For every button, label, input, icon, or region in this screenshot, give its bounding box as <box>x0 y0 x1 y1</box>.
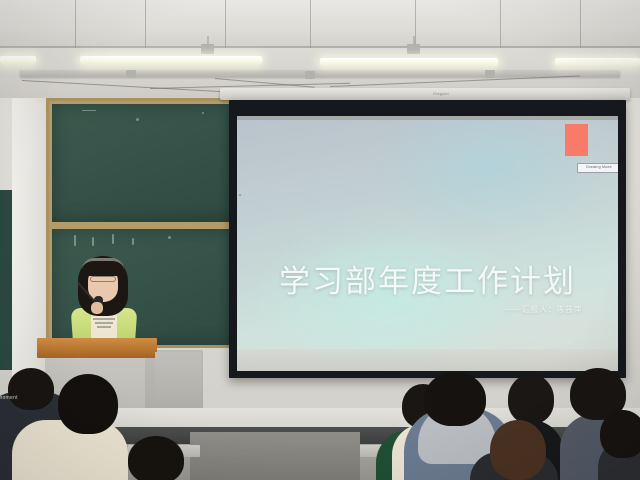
stage-step <box>190 432 360 480</box>
classroom-presentation-photo: Elegant Drawing Mode 学习部年度工作计划 ——汇报人：陈芸萍 <box>0 0 640 480</box>
audience-member-9-head <box>600 410 640 458</box>
wall-pillar <box>12 98 50 378</box>
slide-accent-rectangle <box>565 124 588 156</box>
audience-member-1-jacket-text: moment <box>0 395 18 401</box>
projector-screen-housing: Elegant <box>220 88 630 100</box>
light-tube-1 <box>0 56 36 64</box>
audience-member-7-head <box>490 420 546 480</box>
slide-subtitle: ——汇报人：陈芸萍 <box>505 304 582 315</box>
chalkboard-upper-panel <box>52 104 240 222</box>
slide-mode-badge: Drawing Mode <box>577 163 618 173</box>
presenter-glasses <box>90 276 116 282</box>
light-tube-4 <box>555 58 640 66</box>
projected-slide: Drawing Mode 学习部年度工作计划 ——汇报人：陈芸萍 <box>237 116 618 371</box>
audience-member-6-head <box>508 374 554 424</box>
slide-title: 学习部年度工作计划 <box>237 256 618 301</box>
audience-member-1-head <box>8 368 54 410</box>
audience-member-5-head <box>424 372 486 426</box>
podium-wooden-top <box>37 338 157 358</box>
light-tube-3 <box>320 58 498 66</box>
side-table <box>155 352 201 410</box>
presenter-headband <box>82 258 124 270</box>
presenter-neckline <box>93 318 115 332</box>
presenter <box>64 256 142 346</box>
housing-logo: Elegant <box>433 91 449 96</box>
presenter-hand <box>91 302 103 314</box>
light-tube-2 <box>80 56 262 64</box>
audience-member-3-head <box>128 436 184 480</box>
audience-member-2-head <box>58 374 118 434</box>
ceiling <box>0 0 640 50</box>
projector-screen-frame: Drawing Mode 学习部年度工作计划 ——汇报人：陈芸萍 <box>229 100 626 378</box>
